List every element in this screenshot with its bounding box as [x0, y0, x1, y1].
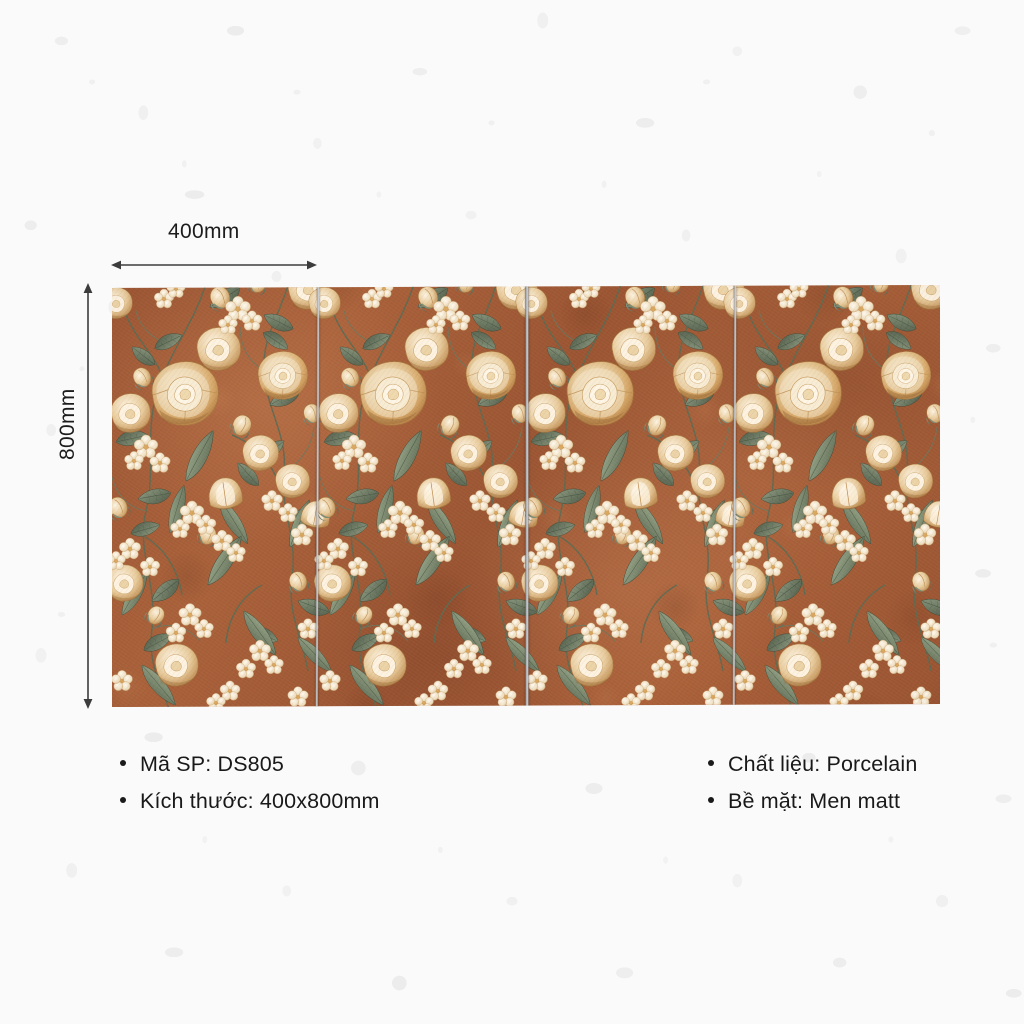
grout-seam-line-center [525, 285, 529, 707]
bullet-icon [708, 797, 714, 803]
bullet-icon [120, 760, 126, 766]
bullet-icon [708, 760, 714, 766]
spec-item-surface: Bề mặt: Men matt [708, 789, 917, 814]
spec-text: Kích thước: 400x800mm [140, 789, 380, 814]
spec-list-right: Chất liệu: Porcelain Bề mặt: Men matt [708, 752, 917, 826]
height-dimension-arrow [78, 282, 98, 710]
product-spec-sheet: 400mm 800mm [0, 0, 1024, 1024]
spec-text: Chất liệu: Porcelain [728, 752, 917, 777]
height-dimension-label: 800mm [56, 388, 80, 460]
spec-item-size: Kích thước: 400x800mm [120, 789, 380, 814]
spec-list-left: Mã SP: DS805 Kích thước: 400x800mm [120, 752, 380, 826]
spec-text: Bề mặt: Men matt [728, 789, 900, 814]
spec-item-material: Chất liệu: Porcelain [708, 752, 917, 777]
spec-item-product-code: Mã SP: DS805 [120, 752, 380, 777]
width-dimension-label: 400mm [168, 220, 240, 244]
bullet-icon [120, 797, 126, 803]
tile-preview-panel[interactable] [112, 285, 940, 707]
width-dimension-arrow [110, 255, 318, 275]
spec-text: Mã SP: DS805 [140, 752, 284, 777]
